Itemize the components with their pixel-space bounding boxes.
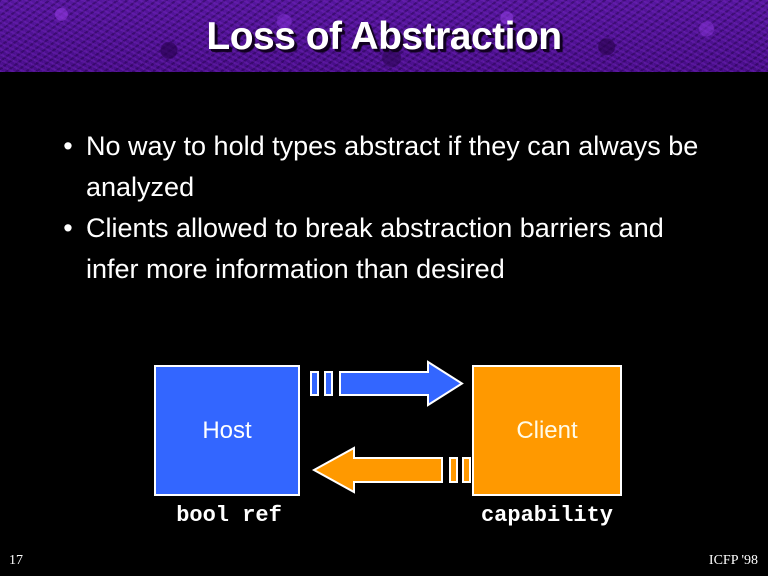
host-box: Host xyxy=(154,365,300,496)
title-banner: Loss of Abstraction xyxy=(0,0,768,72)
conference-label: ICFP '98 xyxy=(709,552,758,570)
client-box: Client xyxy=(472,365,622,496)
client-caption: capability xyxy=(470,503,624,529)
client-label: Client xyxy=(474,417,620,445)
client-to-host-arrow-icon xyxy=(306,445,472,495)
host-label: Host xyxy=(156,417,298,445)
page-title: Loss of Abstraction xyxy=(0,15,768,59)
list-item: • No way to hold types abstract if they … xyxy=(50,126,730,208)
host-to-client-arrow-icon xyxy=(310,361,470,407)
bullet-text: No way to hold types abstract if they ca… xyxy=(86,126,704,208)
host-caption: bool ref xyxy=(165,503,293,529)
bullet-marker-icon: • xyxy=(50,126,86,167)
bullet-marker-icon: • xyxy=(50,208,86,249)
slide-canvas: Loss of Abstraction • No way to hold typ… xyxy=(0,0,768,576)
slide-number: 17 xyxy=(9,552,23,570)
bullet-text: Clients allowed to break abstraction bar… xyxy=(86,208,704,290)
list-item: • Clients allowed to break abstraction b… xyxy=(50,208,730,290)
bullet-list: • No way to hold types abstract if they … xyxy=(50,126,730,290)
host-client-diagram: Host Client bool ref capability xyxy=(0,355,768,520)
